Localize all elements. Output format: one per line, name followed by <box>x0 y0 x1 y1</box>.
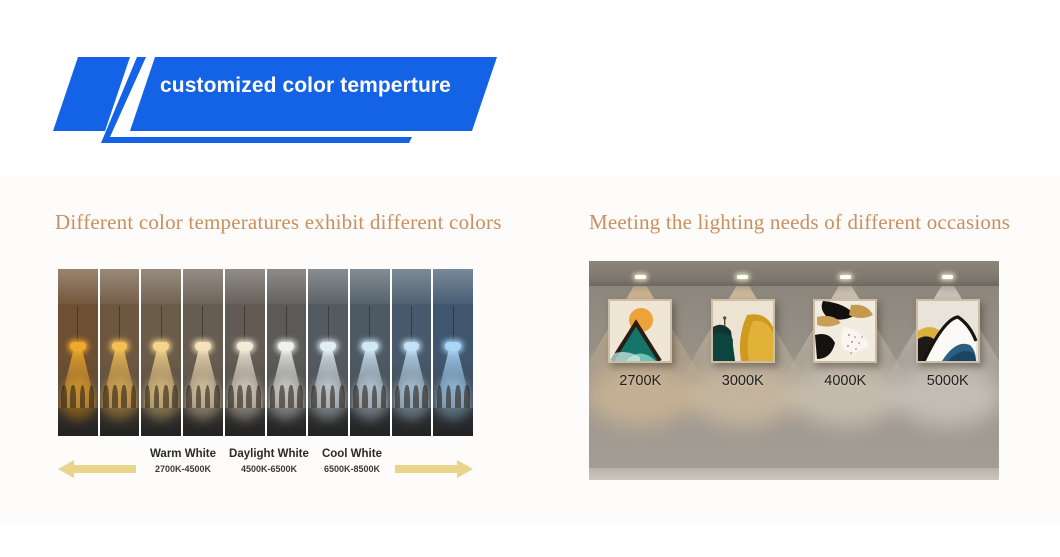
framed-artwork <box>608 299 672 363</box>
ceiling-spotlight-icon <box>635 275 646 279</box>
pendant-cord <box>161 306 162 346</box>
pendant-cord <box>244 306 245 346</box>
pendant-shade <box>153 342 169 350</box>
shelf-objects <box>103 381 136 408</box>
pendant-shade <box>112 342 128 350</box>
ceiling-spotlight-icon <box>840 275 851 279</box>
banner-title: customized color temperture <box>160 74 451 98</box>
shelf-objects <box>437 381 470 408</box>
panel-floor <box>183 408 223 436</box>
scale-label-group: Warm White 2700K-4500K Daylight White 45… <box>150 448 382 474</box>
artwork-canvas <box>918 301 978 361</box>
panel-ceiling <box>392 269 432 304</box>
pendant-shade <box>195 342 211 350</box>
pendant-cord <box>328 306 329 346</box>
pendant-cord <box>202 306 203 346</box>
framed-artwork <box>813 299 877 363</box>
color-temperature-strip-image <box>58 269 473 436</box>
color-temperature-panel <box>58 269 98 436</box>
pendant-cord <box>77 306 78 346</box>
header-banner: customized color temperture <box>0 0 560 160</box>
pendant-shade <box>237 342 253 350</box>
panel-floor <box>433 408 473 436</box>
pendant-shade <box>404 342 420 350</box>
framed-artwork <box>916 299 980 363</box>
pendant-cord <box>369 306 370 346</box>
framed-artwork <box>711 299 775 363</box>
color-temperature-scale: Warm White 2700K-4500K Daylight White 45… <box>58 448 473 492</box>
ceiling-spotlight-icon <box>942 275 953 279</box>
panel-floor <box>100 408 140 436</box>
panel-ceiling <box>433 269 473 304</box>
color-temperature-panel <box>350 269 390 436</box>
panel-floor <box>350 408 390 436</box>
artwork-kelvin-label: 2700K <box>595 373 685 389</box>
scale-item: Cool White 6500K-8500K <box>322 448 382 474</box>
panel-floor <box>308 408 348 436</box>
artwork-kelvin-label: 5000K <box>903 373 993 389</box>
panel-floor <box>141 408 181 436</box>
panel-floor <box>267 408 307 436</box>
left-section-heading: Different color temperatures exhibit dif… <box>55 210 502 235</box>
pendant-cord <box>453 306 454 346</box>
scale-range: 6500K-8500K <box>322 464 382 474</box>
gallery-ceiling <box>589 261 999 286</box>
panel-ceiling <box>58 269 98 304</box>
panel-ceiling <box>183 269 223 304</box>
shelf-objects <box>353 381 386 408</box>
pendant-shade <box>278 342 294 350</box>
shelf-objects <box>61 381 94 408</box>
artwork-canvas <box>815 301 875 361</box>
scale-range: 2700K-4500K <box>150 464 216 474</box>
artwork-kelvin-label: 4000K <box>800 373 890 389</box>
color-temperature-panel <box>267 269 307 436</box>
scale-item: Daylight White 4500K-6500K <box>229 448 309 474</box>
gallery-wall-image: 2700K3000K4000K5000K <box>589 261 999 480</box>
color-temperature-panel <box>183 269 223 436</box>
pendant-cord <box>286 306 287 346</box>
pendant-shade <box>362 342 378 350</box>
right-section-heading: Meeting the lighting needs of different … <box>589 210 1010 235</box>
gallery-floor <box>589 468 999 480</box>
color-temperature-panel <box>308 269 348 436</box>
artwork-canvas <box>713 301 773 361</box>
ceiling-spotlight-icon <box>737 275 748 279</box>
scale-item: Warm White 2700K-4500K <box>150 448 216 474</box>
shelf-objects <box>311 381 344 408</box>
panel-floor <box>225 408 265 436</box>
panel-ceiling <box>100 269 140 304</box>
artwork-kelvin-label: 3000K <box>698 373 788 389</box>
shelf-objects <box>228 381 261 408</box>
pendant-cord <box>119 306 120 346</box>
shelf-objects <box>145 381 178 408</box>
pendant-shade <box>445 342 461 350</box>
scale-name: Warm White <box>150 448 216 460</box>
color-temperature-panel <box>433 269 473 436</box>
slide-root: customized color temperture Different co… <box>0 0 1060 557</box>
panel-floor <box>58 408 98 436</box>
color-temperature-panel <box>392 269 432 436</box>
color-temperature-panel <box>141 269 181 436</box>
pendant-cord <box>411 306 412 346</box>
color-temperature-panel <box>100 269 140 436</box>
shelf-objects <box>186 381 219 408</box>
panel-ceiling <box>308 269 348 304</box>
panel-ceiling <box>225 269 265 304</box>
panel-ceiling <box>267 269 307 304</box>
color-temperature-panel <box>225 269 265 436</box>
panel-floor <box>392 408 432 436</box>
pendant-shade <box>70 342 86 350</box>
panel-ceiling <box>141 269 181 304</box>
scale-name: Cool White <box>322 448 382 460</box>
shelf-objects <box>270 381 303 408</box>
shelf-objects <box>395 381 428 408</box>
banner-accent-block <box>53 57 130 131</box>
pendant-shade <box>320 342 336 350</box>
scale-range: 4500K-6500K <box>229 464 309 474</box>
arrow-right-icon <box>395 458 473 480</box>
scale-name: Daylight White <box>229 448 309 460</box>
artwork-canvas <box>610 301 670 361</box>
panel-ceiling <box>350 269 390 304</box>
arrow-left-icon <box>58 458 136 480</box>
